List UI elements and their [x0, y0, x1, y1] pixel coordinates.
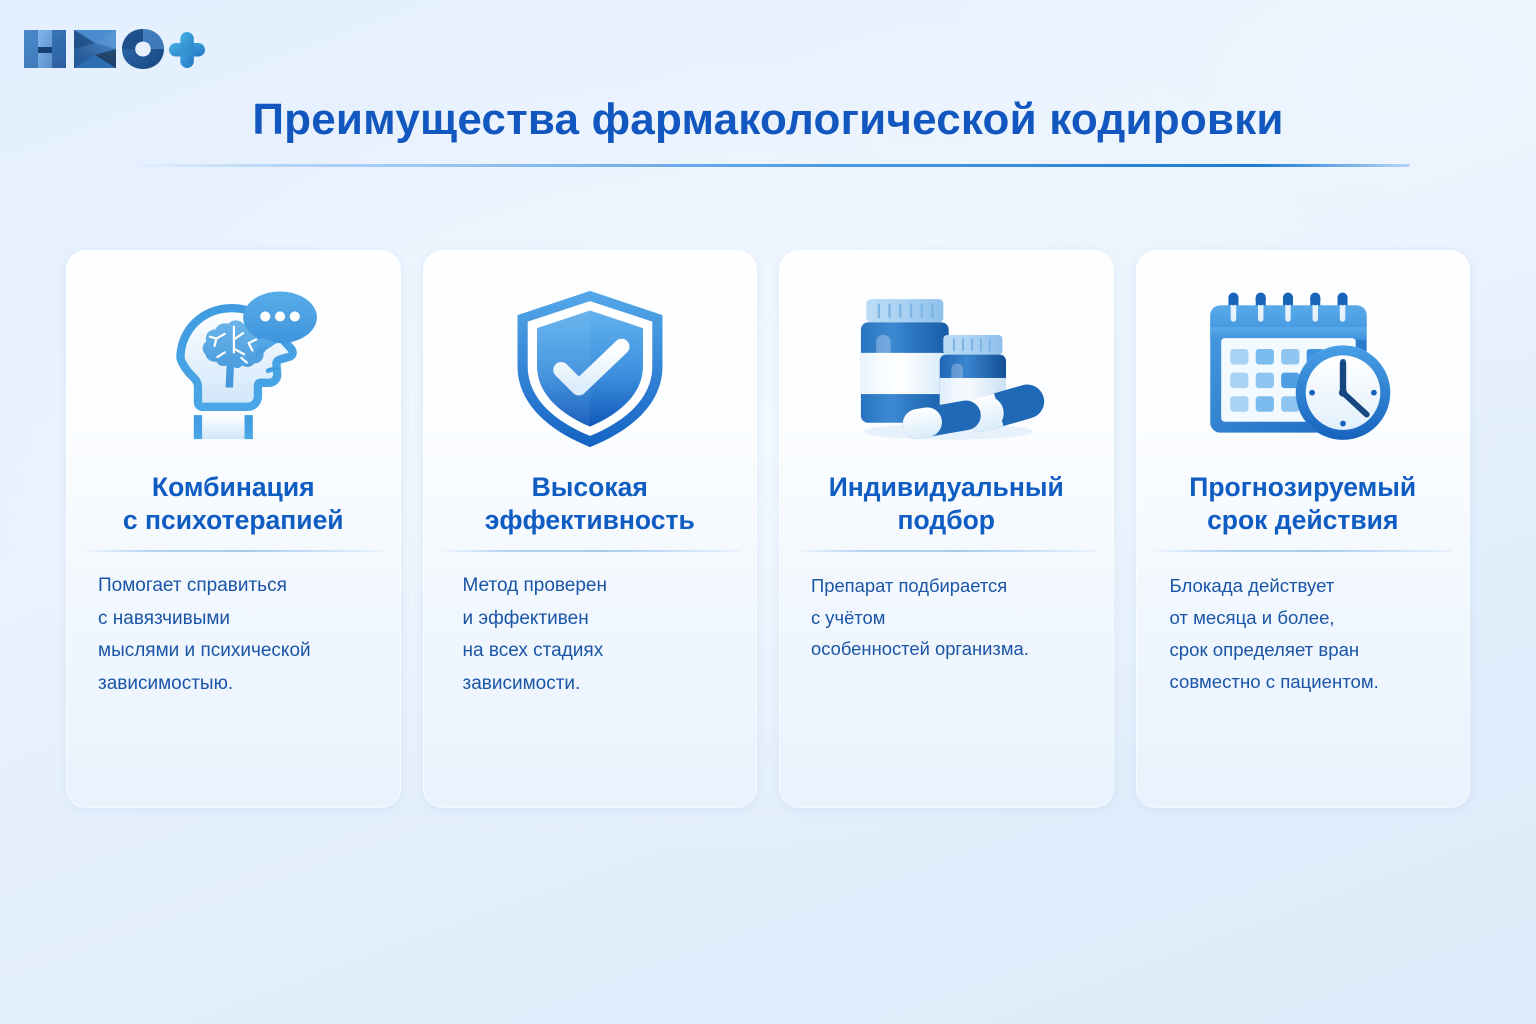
logo-letter-o: [122, 29, 164, 69]
card-heading-line: Прогнозируемый: [1189, 472, 1416, 502]
card-body: Помогает справиться с навязчивыми мыслям…: [84, 570, 383, 701]
card-divider: [1154, 550, 1453, 552]
card-body-line: на всех стадиях: [463, 635, 736, 668]
shield-checkmark-icon: [441, 276, 740, 462]
logo-plus-icon: [169, 32, 205, 68]
card-heading-line: Индивидуальный: [829, 472, 1064, 502]
benefit-card-predictable-duration[interactable]: Прогнозируемый срок действия Блокада дей…: [1136, 250, 1471, 808]
card-body: Метод проверен и эффективен на всех стад…: [441, 570, 740, 701]
card-heading: Высокая эффективность: [481, 468, 699, 540]
card-body-line: срок определяет вран: [1170, 634, 1449, 666]
title-block: Преимущества фармакологической кодировки: [0, 96, 1536, 167]
card-body-line: с навязчивыми: [98, 603, 379, 636]
card-heading: Комбинация с психотерапией: [119, 468, 348, 540]
card-heading: Индивидуальный подбор: [825, 468, 1068, 540]
card-body-line: с учётом: [811, 602, 1092, 634]
card-body-line: совместно с пациентом.: [1170, 666, 1449, 698]
card-body-line: от месяца и более,: [1170, 602, 1449, 634]
card-body-line: Помогает справиться: [98, 570, 379, 603]
clock-icon: [1295, 345, 1390, 440]
card-divider: [797, 550, 1096, 552]
card-body-line: зависимости.: [463, 668, 736, 701]
large-pill-bottle: [861, 299, 949, 423]
page-title: Преимущества фармакологической кодировки: [0, 96, 1536, 144]
benefit-card-individual-selection[interactable]: Индивидуальный подбор Препарат подбирает…: [779, 250, 1114, 808]
card-heading: Прогнозируемый срок действия: [1185, 468, 1420, 540]
card-body: Препарат подбирается с учётом особенност…: [797, 570, 1096, 665]
card-divider: [84, 550, 383, 552]
card-heading-line: срок действия: [1207, 505, 1398, 535]
card-heading-line: Комбинация: [152, 472, 315, 502]
card-heading-line: эффективность: [485, 505, 695, 535]
card-body-line: Блокада действует: [1170, 570, 1449, 602]
card-heading-line: Высокая: [532, 472, 648, 502]
head-brain-speech-bubble-icon: [84, 276, 383, 462]
title-divider: [126, 164, 1410, 167]
benefits-card-grid: Комбинация с психотерапией Помогает спра…: [66, 250, 1470, 808]
card-body-line: Метод проверен: [463, 570, 736, 603]
card-heading-line: подбор: [898, 505, 995, 535]
card-body-line: особенностей организма.: [811, 633, 1092, 665]
neo-plus-logo[interactable]: [18, 18, 208, 80]
card-body-line: мыслями и психической: [98, 635, 379, 668]
card-heading-line: с психотерапией: [123, 505, 344, 535]
card-body-line: и эффективен: [463, 603, 736, 636]
calendar-clock-icon: [1154, 276, 1453, 462]
card-divider: [441, 550, 740, 552]
benefit-card-combination-psychotherapy[interactable]: Комбинация с психотерапией Помогает спра…: [66, 250, 401, 808]
card-body-line: Препарат подбирается: [811, 570, 1092, 602]
logo-letter-e: [74, 30, 116, 68]
logo-letter-n: [24, 30, 66, 68]
benefit-card-high-effectiveness[interactable]: Высокая эффективность Метод проверен и э…: [423, 250, 758, 808]
card-body-line: зависимостыю.: [98, 668, 379, 701]
card-body: Блокада действует от месяца и более, сро…: [1154, 570, 1453, 698]
pill-bottles-capsules-icon: [797, 276, 1096, 462]
